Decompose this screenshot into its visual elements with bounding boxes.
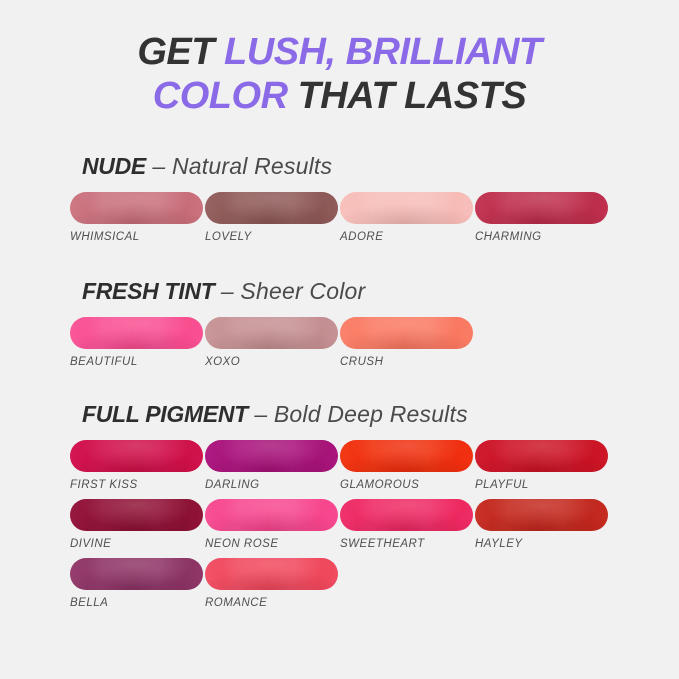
swatch-chip-romance[interactable] — [205, 558, 338, 590]
swatch-chip-xoxo[interactable] — [205, 317, 338, 349]
swatch-row: FIRST KISS DARLING GLAMOROUS PLAYFUL — [70, 440, 639, 491]
swatch-label-first-kiss: FIRST KISS — [70, 479, 205, 491]
swatch-chip-adore[interactable] — [340, 192, 473, 224]
swatch-cell-charming[interactable]: CHARMING — [475, 192, 610, 243]
headline-segment-that-lasts: THAT LASTS — [288, 75, 527, 117]
swatch-cell-darling[interactable]: DARLING — [205, 440, 340, 491]
headline-line-2: COLOR THAT LASTS — [0, 74, 679, 118]
section-fresh-tint: FRESH TINT – Sheer Color BEAUTIFUL XOXO … — [70, 277, 639, 368]
swatch-label-sweetheart: SWEETHEART — [340, 538, 475, 550]
headline-segment-get: GET — [137, 31, 224, 73]
swatch-chip-charming[interactable] — [475, 192, 608, 224]
page-headline: GET LUSH, BRILLIANT COLOR THAT LASTS — [0, 0, 679, 118]
swatch-label-xoxo: XOXO — [205, 356, 340, 368]
swatch-cell-neon-rose[interactable]: NEON ROSE — [205, 499, 340, 550]
swatch-chip-glamorous[interactable] — [340, 440, 473, 472]
section-subtitle-nude: – Natural Results — [152, 153, 332, 179]
swatch-chip-hayley[interactable] — [475, 499, 608, 531]
swatch-label-charming: CHARMING — [475, 231, 610, 243]
swatch-label-lovely: LOVELY — [205, 231, 340, 243]
swatch-chip-neon-rose[interactable] — [205, 499, 338, 531]
swatch-cell-beautiful[interactable]: BEAUTIFUL — [70, 317, 205, 368]
section-subtitle-fresh-tint: – Sheer Color — [221, 278, 366, 304]
headline-segment-color: COLOR — [153, 75, 288, 117]
swatch-label-bella: BELLA — [70, 597, 205, 609]
swatch-chip-sweetheart[interactable] — [340, 499, 473, 531]
section-title-nude: NUDE — [82, 153, 146, 179]
section-header-fresh-tint: FRESH TINT – Sheer Color — [82, 277, 639, 305]
section-title-fresh-tint: FRESH TINT — [82, 278, 214, 304]
swatch-label-divine: DIVINE — [70, 538, 205, 550]
swatch-label-whimsical: WHIMSICAL — [70, 231, 205, 243]
swatch-chip-beautiful[interactable] — [70, 317, 203, 349]
swatch-cell-sweetheart[interactable]: SWEETHEART — [340, 499, 475, 550]
swatch-cell-hayley[interactable]: HAYLEY — [475, 499, 610, 550]
swatch-row: BELLA ROMANCE — [70, 558, 639, 609]
swatch-label-darling: DARLING — [205, 479, 340, 491]
swatch-label-adore: ADORE — [340, 231, 475, 243]
swatch-chip-darling[interactable] — [205, 440, 338, 472]
headline-segment-lush-brilliant: LUSH, BRILLIANT — [224, 31, 542, 73]
section-header-full-pigment: FULL PIGMENT – Bold Deep Results — [82, 400, 639, 428]
swatch-cell-divine[interactable]: DIVINE — [70, 499, 205, 550]
swatch-cell-bella[interactable]: BELLA — [70, 558, 205, 609]
swatch-row: DIVINE NEON ROSE SWEETHEART HAYLEY — [70, 499, 639, 550]
swatch-label-romance: ROMANCE — [205, 597, 340, 609]
swatch-cell-romance[interactable]: ROMANCE — [205, 558, 340, 609]
swatch-cell-lovely[interactable]: LOVELY — [205, 192, 340, 243]
section-full-pigment: FULL PIGMENT – Bold Deep Results FIRST K… — [70, 400, 639, 609]
shade-guide-page: GET LUSH, BRILLIANT COLOR THAT LASTS NUD… — [0, 0, 679, 679]
swatch-label-glamorous: GLAMOROUS — [340, 479, 475, 491]
swatch-cell-first-kiss[interactable]: FIRST KISS — [70, 440, 205, 491]
swatch-label-playful: PLAYFUL — [475, 479, 610, 491]
swatch-cell-playful[interactable]: PLAYFUL — [475, 440, 610, 491]
swatch-row: WHIMSICAL LOVELY ADORE CHARMING — [70, 192, 639, 243]
swatch-cell-whimsical[interactable]: WHIMSICAL — [70, 192, 205, 243]
swatch-label-crush: CRUSH — [340, 356, 475, 368]
swatch-label-hayley: HAYLEY — [475, 538, 610, 550]
section-title-full-pigment: FULL PIGMENT — [82, 401, 248, 427]
swatch-chip-first-kiss[interactable] — [70, 440, 203, 472]
swatch-label-beautiful: BEAUTIFUL — [70, 356, 205, 368]
headline-line-1: GET LUSH, BRILLIANT — [0, 30, 679, 74]
swatch-label-neon-rose: NEON ROSE — [205, 538, 340, 550]
swatch-cell-glamorous[interactable]: GLAMOROUS — [340, 440, 475, 491]
swatch-cell-xoxo[interactable]: XOXO — [205, 317, 340, 368]
swatch-cell-adore[interactable]: ADORE — [340, 192, 475, 243]
swatch-row: BEAUTIFUL XOXO CRUSH — [70, 317, 639, 368]
swatch-chip-lovely[interactable] — [205, 192, 338, 224]
swatch-chip-divine[interactable] — [70, 499, 203, 531]
swatch-chip-bella[interactable] — [70, 558, 203, 590]
section-header-nude: NUDE – Natural Results — [82, 152, 639, 180]
swatch-cell-crush[interactable]: CRUSH — [340, 317, 475, 368]
section-subtitle-full-pigment: – Bold Deep Results — [254, 401, 467, 427]
swatch-chip-playful[interactable] — [475, 440, 608, 472]
swatch-chip-whimsical[interactable] — [70, 192, 203, 224]
section-nude: NUDE – Natural Results WHIMSICAL LOVELY … — [70, 152, 639, 243]
swatch-chip-crush[interactable] — [340, 317, 473, 349]
